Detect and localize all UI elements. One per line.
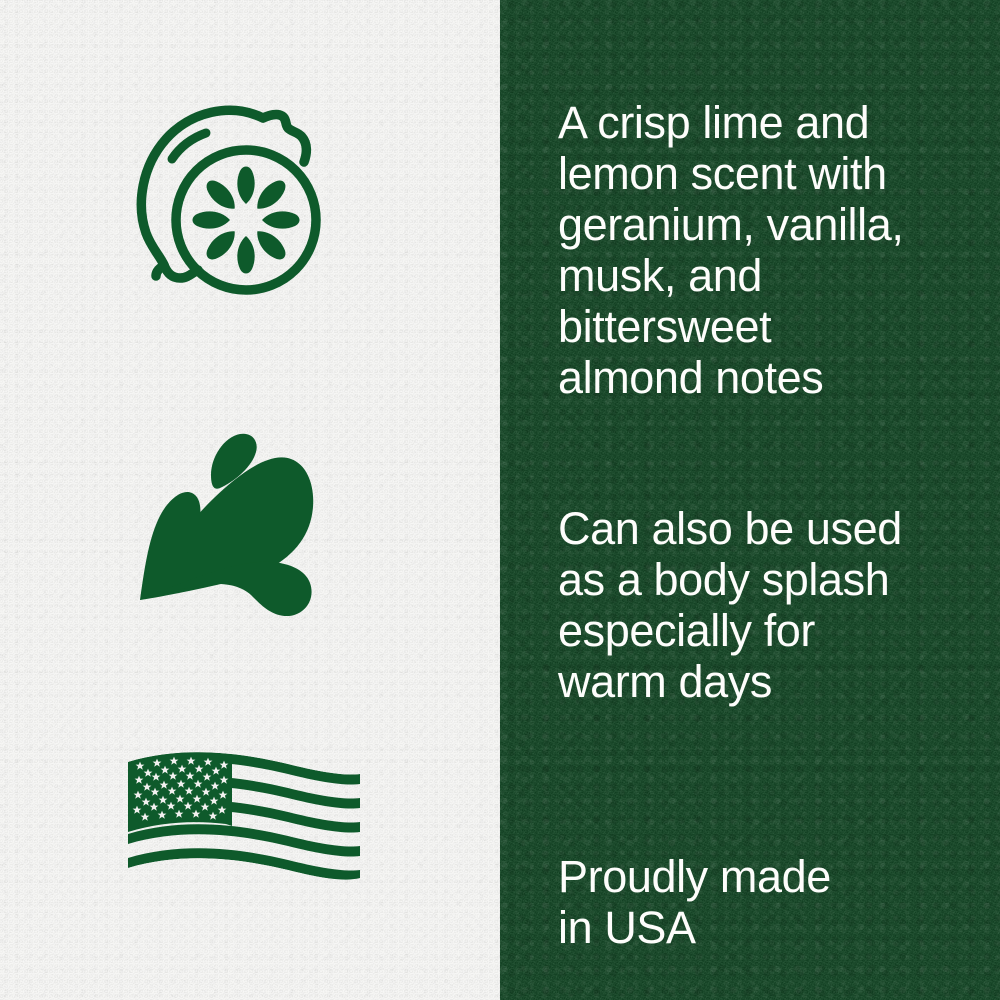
feature-panel-graphic: A crisp lime and lemon scent with gerani… [0, 0, 1000, 1000]
usa-flag-icon [120, 748, 365, 916]
icon-column [0, 0, 500, 1000]
text-column: A crisp lime and lemon scent with gerani… [500, 0, 1000, 1000]
feature-text-body-splash: Can also be used as a body splash especi… [558, 503, 958, 707]
splash-droplets-icon [128, 425, 333, 630]
feature-text-made-in-usa: Proudly made in USA [558, 851, 958, 953]
feature-text-scent: A crisp lime and lemon scent with gerani… [558, 97, 958, 403]
lime-lemon-slice-icon [118, 92, 328, 302]
